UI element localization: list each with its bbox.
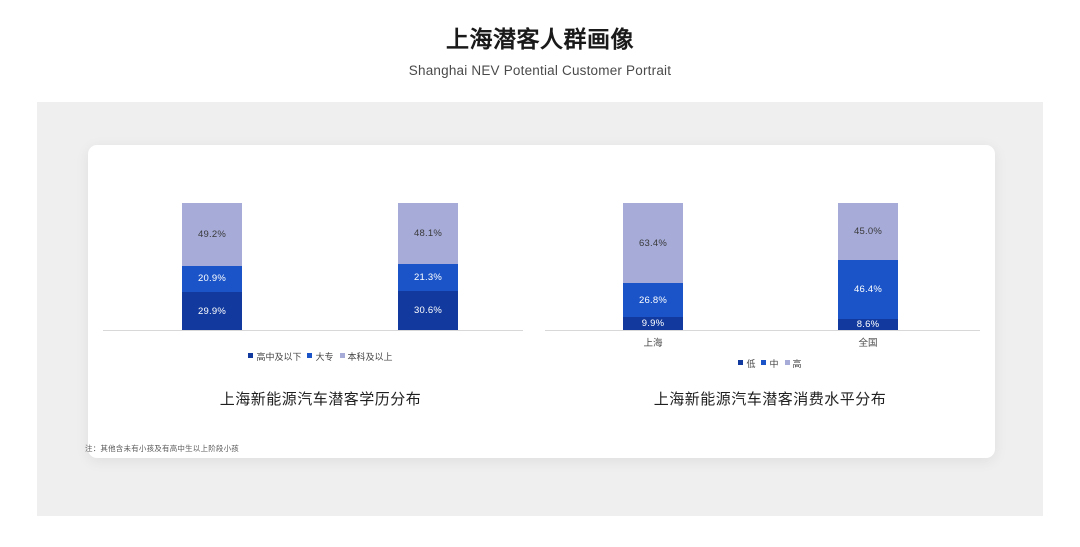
chart-consumption-legend: 低 中 高 xyxy=(545,357,995,370)
chart-consumption-plot: 63.4% 26.8% 9.9% 上海 45.0% 46.4% 8.6% 全国 xyxy=(545,145,995,331)
bar-stack[interactable]: 49.2% 20.9% 29.9% xyxy=(182,203,242,330)
bar-segment-low: 8.6% xyxy=(838,319,898,330)
legend-item[interactable]: 低 xyxy=(738,357,755,370)
legend-swatch-icon xyxy=(785,360,790,365)
x-axis-label: 上海 xyxy=(623,335,683,349)
bar-segment-low: 30.6% xyxy=(398,291,458,330)
legend-swatch-icon xyxy=(761,360,766,365)
legend-label: 高中及以下 xyxy=(256,352,301,362)
bar-stack[interactable]: 45.0% 46.4% 8.6% xyxy=(838,203,898,330)
bar-segment-mid: 46.4% xyxy=(838,260,898,319)
legend-item[interactable]: 中 xyxy=(761,357,778,370)
bar-segment-high: 45.0% xyxy=(838,203,898,260)
legend-swatch-icon xyxy=(248,353,253,358)
bar-segment-high: 48.1% xyxy=(398,203,458,264)
chart-education: 49.2% 20.9% 29.9% 48.1% 21.3% 30.6% 高中及以… xyxy=(103,145,538,458)
chart-card: 49.2% 20.9% 29.9% 48.1% 21.3% 30.6% 高中及以… xyxy=(88,145,995,458)
bar-segment-high: 49.2% xyxy=(182,203,242,265)
bar-stack[interactable]: 48.1% 21.3% 30.6% xyxy=(398,203,458,330)
x-axis-line xyxy=(103,330,523,331)
charts-row: 49.2% 20.9% 29.9% 48.1% 21.3% 30.6% 高中及以… xyxy=(88,145,995,458)
legend-label: 中 xyxy=(769,359,778,369)
footnote: 注：其他含未有小孩及有高中生以上阶段小孩 xyxy=(85,443,239,454)
page-header: 上海潜客人群画像 Shanghai NEV Potential Customer… xyxy=(0,0,1080,78)
legend-item[interactable]: 高 xyxy=(785,357,802,370)
legend-label: 低 xyxy=(746,359,755,369)
legend-label: 高 xyxy=(793,359,802,369)
x-axis-line xyxy=(545,330,980,331)
legend-label: 大专 xyxy=(315,352,333,362)
legend-swatch-icon xyxy=(340,353,345,358)
chart-education-legend: 高中及以下 大专 本科及以上 xyxy=(103,350,538,363)
page-subtitle: Shanghai NEV Potential Customer Portrait xyxy=(0,54,1080,78)
legend-label: 本科及以上 xyxy=(348,352,393,362)
bar-segment-low: 29.9% xyxy=(182,292,242,330)
chart-consumption-caption: 上海新能源汽车潜客消费水平分布 xyxy=(545,388,995,409)
legend-item[interactable]: 本科及以上 xyxy=(340,350,393,363)
bar-segment-mid: 21.3% xyxy=(398,264,458,291)
legend-swatch-icon xyxy=(307,353,312,358)
bar-stack[interactable]: 63.4% 26.8% 9.9% xyxy=(623,203,683,330)
bar-segment-low: 9.9% xyxy=(623,317,683,330)
legend-swatch-icon xyxy=(738,360,743,365)
chart-consumption: 63.4% 26.8% 9.9% 上海 45.0% 46.4% 8.6% 全国 … xyxy=(545,145,995,458)
bar-segment-high: 63.4% xyxy=(623,203,683,284)
page-title: 上海潜客人群画像 xyxy=(0,0,1080,54)
legend-item[interactable]: 大专 xyxy=(307,350,333,363)
legend-item[interactable]: 高中及以下 xyxy=(248,350,301,363)
chart-education-plot: 49.2% 20.9% 29.9% 48.1% 21.3% 30.6% xyxy=(103,145,538,331)
chart-education-caption: 上海新能源汽车潜客学历分布 xyxy=(103,388,538,409)
bar-segment-mid: 26.8% xyxy=(623,283,683,317)
x-axis-label: 全国 xyxy=(838,335,898,349)
bar-segment-mid: 20.9% xyxy=(182,266,242,293)
